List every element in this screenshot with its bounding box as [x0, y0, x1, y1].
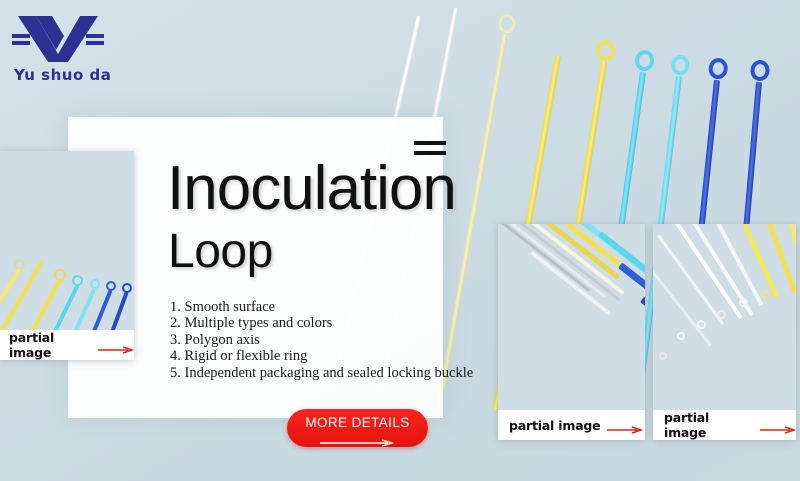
thumb-loop-ring	[659, 352, 667, 360]
card-caption-text: partial image	[9, 330, 91, 360]
feature-item: 4. Rigid or flexible ring	[170, 348, 473, 364]
thumb-loop	[598, 231, 645, 313]
thumb-loop-ring	[677, 332, 685, 340]
partial-image-card-left[interactable]: partial image	[0, 151, 134, 360]
thumb-loop	[56, 287, 97, 330]
card-caption-text: partial image	[664, 410, 753, 440]
thumb-loop-ring	[739, 298, 748, 307]
brand-name: Yu shuo da	[14, 66, 111, 84]
card-thumbnail	[0, 151, 134, 330]
card-caption: partial image	[653, 410, 796, 440]
card-thumbnail	[498, 224, 645, 410]
arrow-right-icon	[760, 421, 796, 429]
brand-logo[interactable]: Yu shuo da	[12, 10, 132, 88]
feature-list: 1. Smooth surface 2. Multiple types and …	[170, 299, 473, 381]
feature-item: 2. Multiple types and colors	[170, 315, 473, 331]
arrow-right-icon	[320, 435, 394, 443]
feature-item: 5. Independent packaging and sealed lock…	[170, 365, 473, 381]
headline-line-2: Loop	[168, 228, 273, 276]
product-banner: Yu shuo da Inoculation Loop 1. Smooth su…	[0, 0, 800, 481]
card-thumbnail	[653, 224, 796, 410]
card-caption: partial image	[0, 330, 134, 360]
headline-line-1: Inoculation	[167, 158, 456, 220]
arrow-right-icon	[98, 341, 134, 349]
partial-image-card-right[interactable]: partial image	[653, 224, 796, 440]
card-caption: partial image	[498, 410, 645, 440]
feature-item: 3. Polygon axis	[170, 332, 473, 348]
thumb-loop-ring	[717, 310, 726, 319]
partial-image-card-middle[interactable]: partial image	[498, 224, 645, 440]
arrow-right-icon	[607, 421, 643, 429]
thumb-loop-ring	[761, 290, 770, 299]
thumb-loop-ring	[697, 320, 706, 329]
yushuoda-logo-icon	[12, 10, 104, 62]
feature-item: 1. Smooth surface	[170, 299, 473, 315]
thumb-loop	[640, 296, 645, 369]
thumb-loop	[34, 284, 80, 330]
more-details-label: MORE DETAILS	[287, 415, 428, 430]
card-caption-text: partial image	[509, 418, 600, 433]
more-details-button[interactable]: MORE DETAILS	[287, 409, 428, 447]
